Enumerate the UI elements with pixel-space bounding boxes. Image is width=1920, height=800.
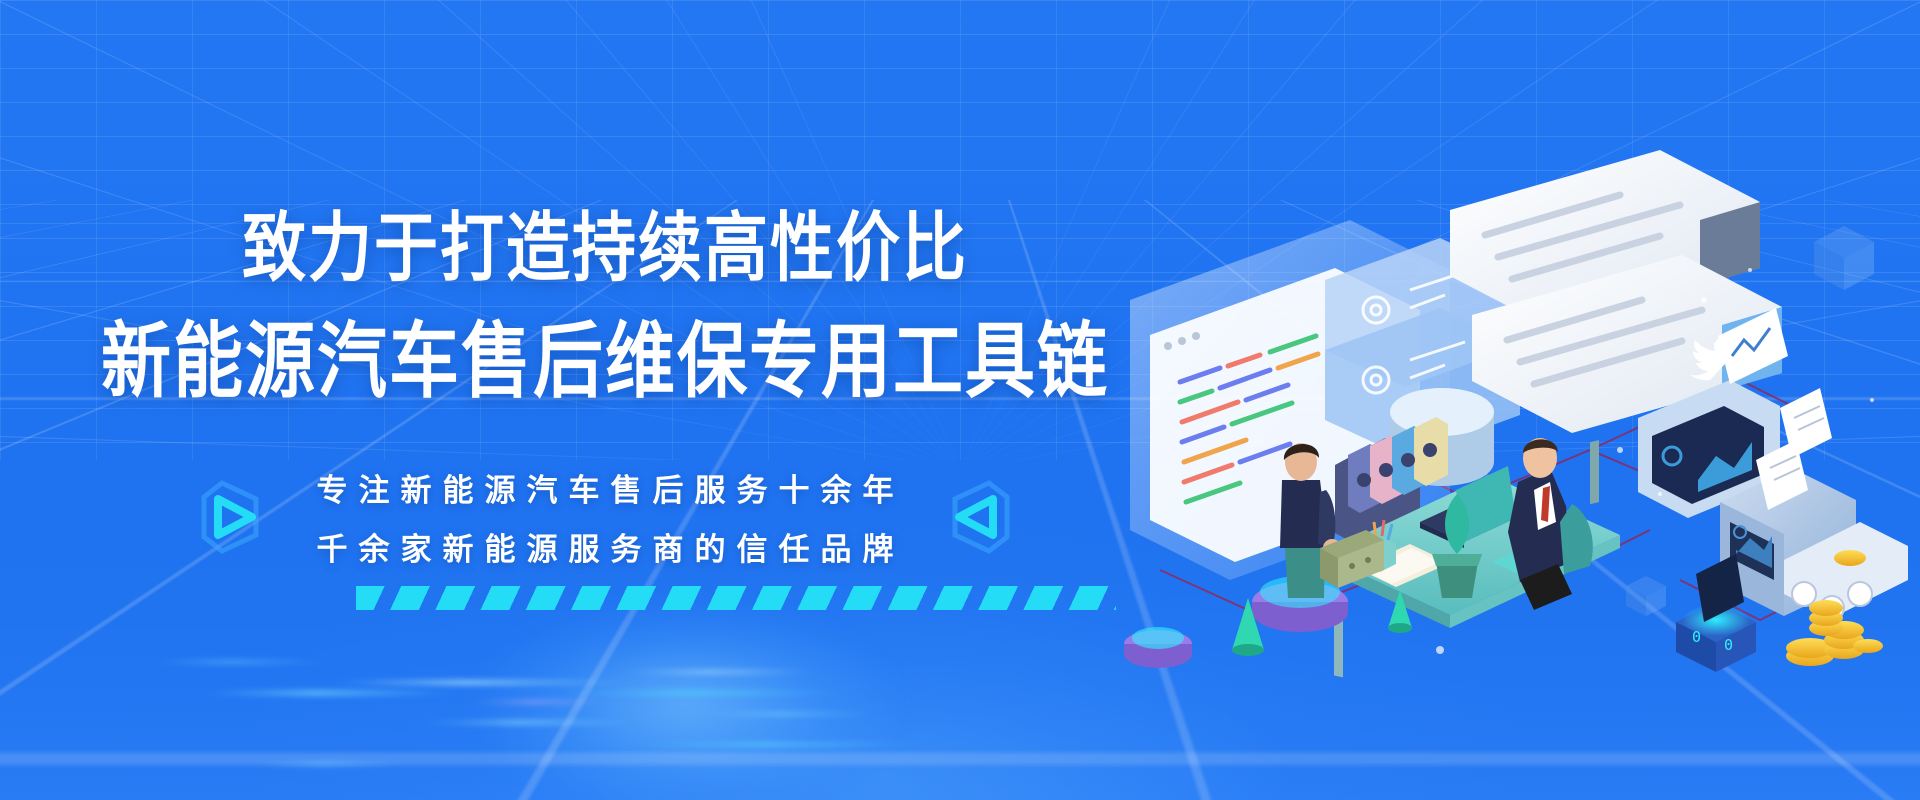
illustration-isometric-office: 0 0 xyxy=(1120,150,1910,710)
subtitle-line-1: 专注新能源汽车售后服务十余年 xyxy=(306,465,905,510)
hero-banner: 0 0 xyxy=(0,0,1920,800)
subtitle-lines: 专注新能源汽车售后服务十余年 千余家新能源服务商的信任品牌 xyxy=(306,465,905,569)
headline-line-1: 致力于打造持续高性价比 xyxy=(0,203,1210,293)
subtitle-row: 专注新能源汽车售后服务十余年 千余家新能源服务商的信任品牌 xyxy=(0,465,1210,569)
svg-text:0: 0 xyxy=(1724,636,1733,654)
play-triangle-right-icon xyxy=(196,477,270,557)
headline-line-2: 新能源汽车售后维保专用工具链 xyxy=(0,313,1210,410)
subtitle-line-2: 千余家新能源服务商的信任品牌 xyxy=(306,524,905,569)
copy-block: 致力于打造持续高性价比 新能源汽车售后维保专用工具链 专注新能源汽车售后服务十余… xyxy=(0,0,1210,800)
diagonal-stripe-bar xyxy=(356,586,1116,610)
svg-text:0: 0 xyxy=(1692,628,1701,646)
play-triangle-left-icon xyxy=(941,477,1015,557)
decor-cube xyxy=(1814,226,1874,290)
gold-coins-stack xyxy=(1786,600,1883,666)
decor-cube xyxy=(1626,576,1666,616)
